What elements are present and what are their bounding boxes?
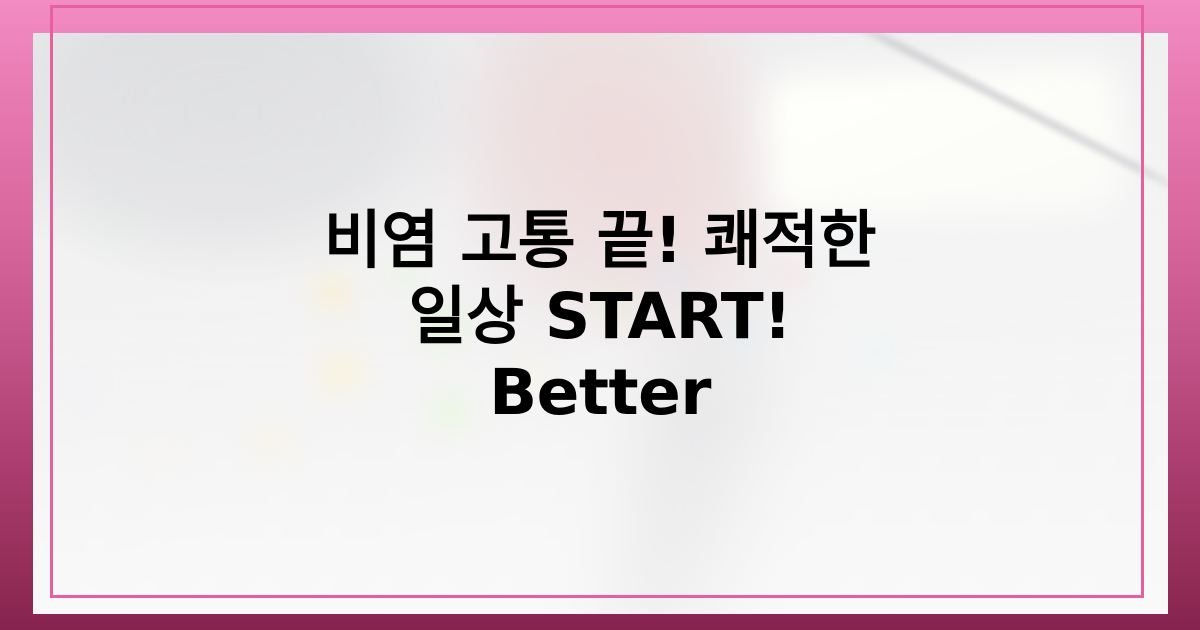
thumbnail-card: 비염 고통 끝! 쾌적한 일상 START! Better (0, 0, 1200, 630)
background-photo (33, 33, 1168, 614)
photo-white-overlay (33, 33, 1168, 614)
